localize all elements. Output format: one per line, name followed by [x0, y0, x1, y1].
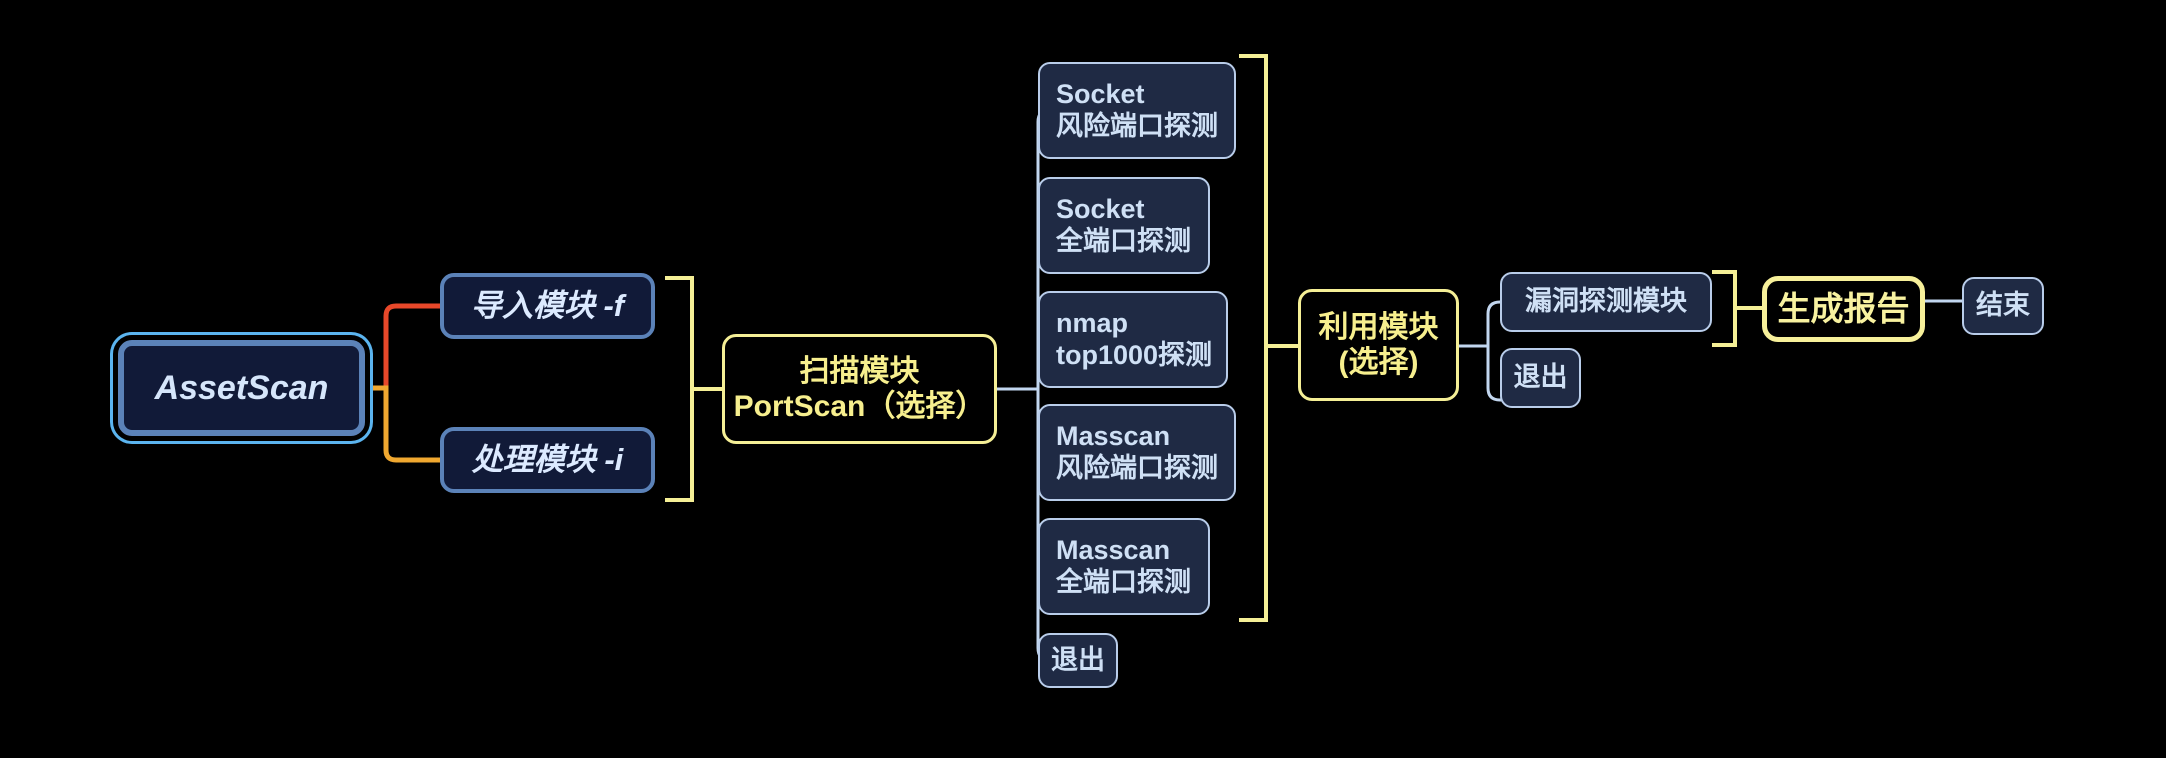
node-vuln-scan-module[interactable]: 漏洞探测模块: [1500, 272, 1712, 332]
node-assetscan-label: AssetScan: [155, 368, 329, 408]
node-socket-risk-port-line1: Socket: [1056, 79, 1145, 111]
node-masscan-risk-port-line2: 风险端口探测: [1056, 453, 1218, 485]
node-exploit-exit[interactable]: 退出: [1500, 348, 1581, 408]
node-process-module[interactable]: 处理模块 -i: [440, 427, 655, 493]
node-socket-risk-port-line2: 风险端口探测: [1056, 111, 1218, 143]
diagram-canvas: AssetScan 导入模块 -f 处理模块 -i 扫描模块 PortScan（…: [0, 0, 2166, 758]
node-vuln-scan-module-label: 漏洞探测模块: [1525, 286, 1687, 318]
node-nmap-top1000[interactable]: nmap top1000探测: [1038, 291, 1228, 388]
node-generate-report[interactable]: 生成报告: [1762, 276, 1925, 342]
node-exploit-module-line2: (选择): [1339, 345, 1419, 380]
node-masscan-all-port[interactable]: Masscan 全端口探测: [1038, 518, 1210, 615]
node-masscan-all-port-line1: Masscan: [1056, 535, 1170, 567]
node-finish-label: 结束: [1976, 290, 2030, 322]
node-scan-exit[interactable]: 退出: [1038, 633, 1118, 688]
node-import-module[interactable]: 导入模块 -f: [440, 273, 655, 339]
node-nmap-top1000-line1: nmap: [1056, 308, 1128, 340]
node-generate-report-label: 生成报告: [1778, 290, 1910, 329]
node-scan-module[interactable]: 扫描模块 PortScan（选择）: [722, 334, 997, 444]
node-exploit-exit-label: 退出: [1514, 362, 1568, 394]
node-socket-all-port-line1: Socket: [1056, 194, 1145, 226]
node-socket-all-port[interactable]: Socket 全端口探测: [1038, 177, 1210, 274]
node-nmap-top1000-line2: top1000探测: [1056, 340, 1212, 372]
node-socket-risk-port[interactable]: Socket 风险端口探测: [1038, 62, 1236, 159]
node-exploit-module[interactable]: 利用模块 (选择): [1298, 289, 1459, 401]
node-socket-all-port-line2: 全端口探测: [1056, 226, 1191, 258]
node-import-module-label: 导入模块 -f: [471, 288, 624, 325]
node-process-module-label: 处理模块 -i: [472, 442, 624, 479]
node-masscan-risk-port[interactable]: Masscan 风险端口探测: [1038, 404, 1236, 501]
node-masscan-risk-port-line1: Masscan: [1056, 421, 1170, 453]
node-scan-exit-label: 退出: [1051, 645, 1105, 677]
node-scan-module-line1: 扫描模块: [800, 354, 920, 389]
node-exploit-module-line1: 利用模块: [1319, 310, 1439, 345]
node-finish[interactable]: 结束: [1962, 277, 2044, 335]
node-masscan-all-port-line2: 全端口探测: [1056, 567, 1191, 599]
node-assetscan[interactable]: AssetScan: [118, 340, 365, 436]
node-scan-module-line2: PortScan（选择）: [734, 389, 986, 424]
